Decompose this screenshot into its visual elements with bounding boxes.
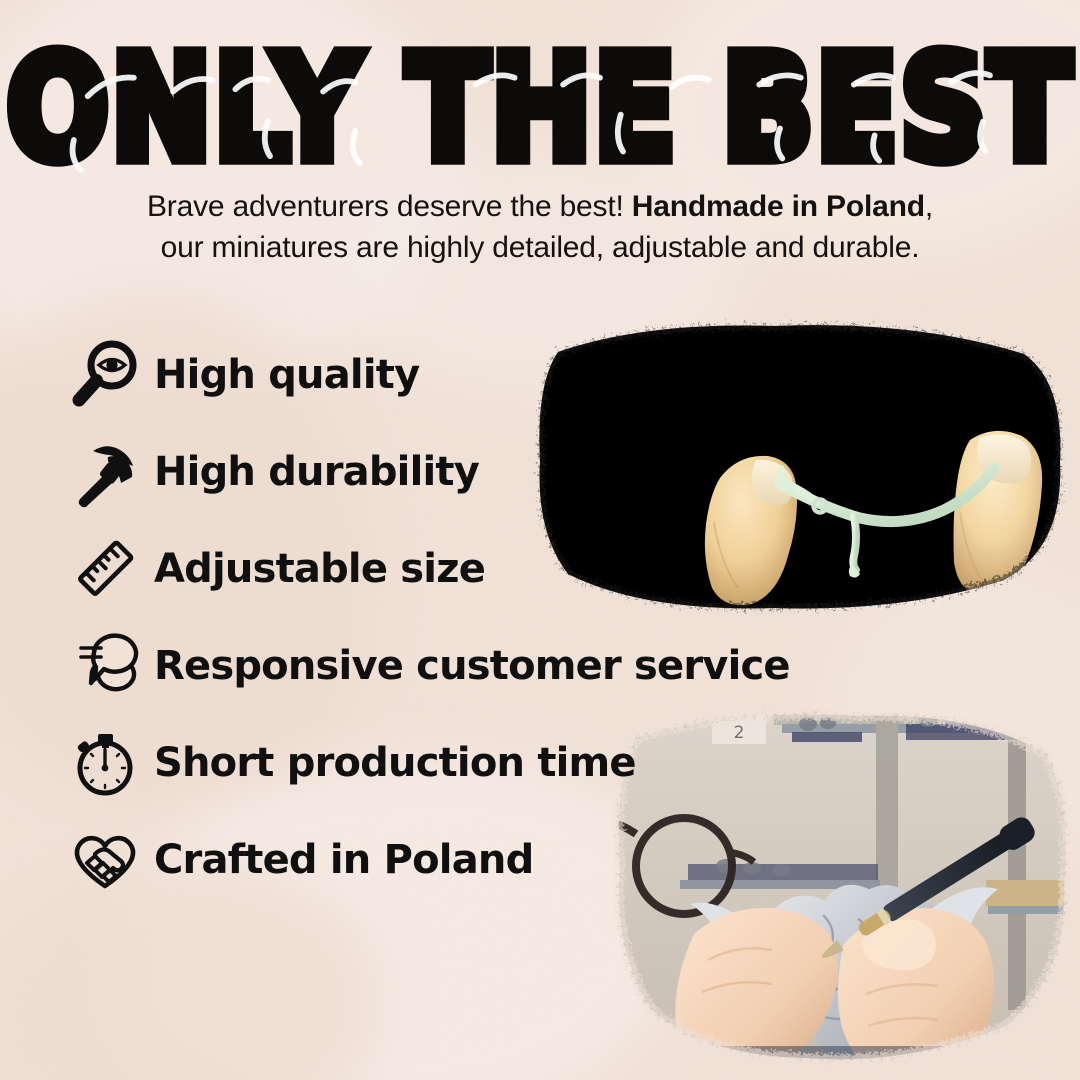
feature-item-responsive-customer-service: Responsive customer service: [62, 617, 802, 714]
subtitle-line2: our miniatures are highly detailed, adju…: [161, 231, 920, 264]
title-block: ONLY THE BEST: [0, 36, 1080, 154]
stopwatch-icon: [62, 723, 148, 803]
feature-item-high-durability: High durability: [62, 423, 802, 520]
hammer-icon: [62, 432, 148, 512]
ruler-icon: [62, 529, 148, 609]
speech-bubbles-icon: [62, 626, 148, 706]
feature-label: Crafted in Poland: [154, 837, 533, 883]
subtitle-bold-handmade: Handmade in Poland: [632, 190, 925, 223]
infographic-page: 2: [0, 0, 1080, 1080]
feature-list: High quality High durability: [62, 326, 802, 908]
magnifier-eye-icon: [62, 335, 148, 415]
feature-item-short-production-time: Short production time: [62, 714, 802, 811]
feature-label: Adjustable size: [154, 546, 485, 592]
page-title: ONLY THE BEST: [7, 36, 1073, 180]
feature-label: Responsive customer service: [154, 643, 790, 689]
handshake-heart-icon: [62, 820, 148, 900]
feature-label: High durability: [154, 449, 479, 495]
feature-label: High quality: [154, 352, 419, 398]
feature-item-adjustable-size: Adjustable size: [62, 520, 802, 617]
subtitle-comma: ,: [925, 190, 933, 223]
subtitle: Brave adventurers deserve the best! Hand…: [60, 186, 1020, 268]
feature-item-crafted-in-poland: Crafted in Poland: [62, 811, 802, 908]
feature-label: Short production time: [154, 740, 636, 786]
feature-item-high-quality: High quality: [62, 326, 802, 423]
subtitle-line1-pre: Brave adventurers deserve the best!: [147, 190, 624, 223]
